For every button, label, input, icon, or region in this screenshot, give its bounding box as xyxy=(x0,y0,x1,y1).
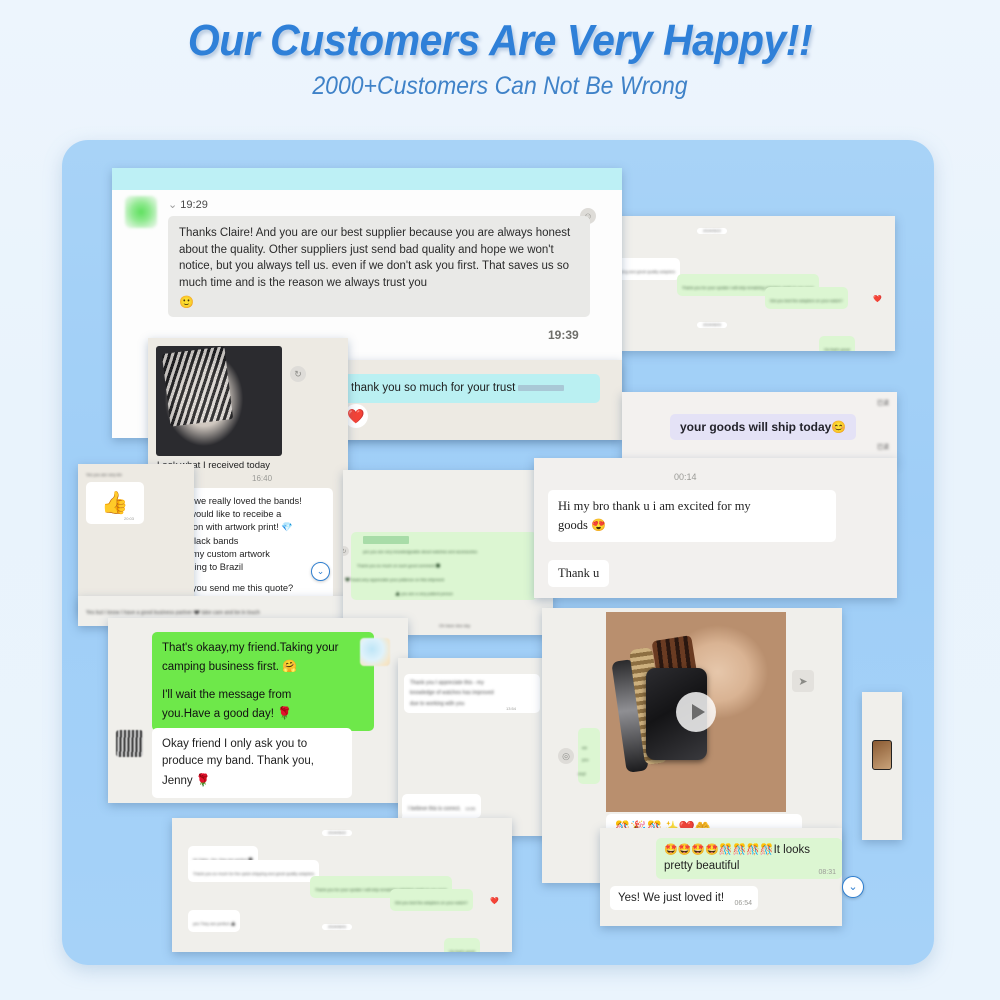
testimonial-card-excited[interactable]: 00:14 Hi my bro thank u i am excited for… xyxy=(534,458,897,598)
read-status-1: 已读 xyxy=(877,398,889,410)
message-time: 19:29 xyxy=(180,199,208,211)
message-out-3: 👍 you are a very patient person xyxy=(395,590,453,598)
beautiful-line-2: pretty beautiful xyxy=(664,859,834,875)
page-header: Our Customers Are Very Happy!! 2000+Cust… xyxy=(0,0,1000,130)
chevron-down-icon[interactable]: ⌄ xyxy=(842,876,864,898)
testimonial-card-knowledgeable[interactable]: yes you are very knowledgeable about wat… xyxy=(343,470,553,635)
message-in-2: Thank you so much for the quick shipping… xyxy=(193,871,314,876)
message-in-3: yes They are perfect 👍 xyxy=(193,921,235,926)
heart-reaction-icon: ❤️ xyxy=(873,295,882,303)
produce-line-1: Okay friend I only ask you to xyxy=(162,736,342,753)
improved-line-1: Thank you I appreciate this - my xyxy=(410,678,534,688)
loved-it-time: 06:54 xyxy=(734,900,752,907)
redacted-block xyxy=(518,385,564,391)
camping-line-1: That's okaay,my friend.Taking your xyxy=(162,640,364,657)
improved-line-2: knowledge of watches has improved xyxy=(410,688,534,698)
partner-note-text: Yes but I know I have a good business pa… xyxy=(86,608,260,618)
message-out-4: Oh have nice day xyxy=(439,622,470,630)
correct-time: 13:55 xyxy=(465,806,475,811)
review-body: Thanks Claire! And you are our best supp… xyxy=(179,227,570,289)
product-thumbnail xyxy=(872,740,892,770)
avatar xyxy=(116,730,143,757)
sticker-avatar xyxy=(360,638,390,666)
celebration-emojis: 🤩🤩🤩🤩🎊🎊🎊🎊 xyxy=(664,844,774,856)
thumbs-up-emoji: 👍 xyxy=(101,490,128,516)
rose-emoji: 🌹 xyxy=(196,773,211,787)
refresh-icon: ↻ xyxy=(290,366,306,382)
produce-line-3: Jenny xyxy=(162,775,193,787)
heart-eyes-emoji: 😍 xyxy=(591,518,606,532)
excited-line-2: goods xyxy=(558,518,588,532)
message-in-1: yes you are very knowledgeable about wat… xyxy=(363,548,477,556)
testimonial-card-camping[interactable]: That's okaay,my friend.Taking your campi… xyxy=(108,618,408,803)
bands-photo[interactable] xyxy=(156,346,282,456)
thumbs-header-text: Yes you are very kin xyxy=(86,471,122,479)
testimonial-card-thumbs-up[interactable]: Yes you are very kin 👍 20:03 xyxy=(78,464,194,614)
play-icon[interactable] xyxy=(676,692,716,732)
improved-time: 13:54 xyxy=(506,706,516,711)
ship-today-text: your goods will ship today xyxy=(680,420,831,434)
adapters-timestamp: 19:39 xyxy=(548,328,579,342)
forward-icon[interactable]: ➤ xyxy=(792,670,814,692)
chevron-down-icon[interactable]: ⌄ xyxy=(311,562,330,581)
produce-line-2: produce my band. Thank you, xyxy=(162,753,342,770)
message-out-3: Ok that's great xyxy=(824,347,850,351)
loved-it-text: Yes! We just loved it! xyxy=(618,892,724,904)
testimonial-card-ship-today[interactable]: 已读 your goods will ship today😊 已读 xyxy=(622,392,897,462)
page-title: Our Customers Are Very Happy!! xyxy=(35,0,965,66)
message-out-2: Did you test the adapters on your watch? xyxy=(395,900,468,905)
testimonial-card-sliver[interactable] xyxy=(862,692,902,840)
excited-timestamp: 00:14 xyxy=(674,472,697,482)
camping-line-3: I'll wait the message from xyxy=(162,687,364,704)
rose-emoji: 🌹 xyxy=(277,706,292,720)
refresh-icon: ◎ xyxy=(558,748,574,764)
testimonial-card-trust-reply[interactable]: ↻ thank you so much for your trust ❤️ 19… xyxy=(300,360,622,440)
beautiful-line-1: It looks xyxy=(774,844,810,856)
mini-msg-1: we xyxy=(582,744,587,752)
camping-line-4: you.Have a good day! xyxy=(162,708,274,720)
message-out-2: Did you test the adapters on your watch? xyxy=(770,298,843,303)
testimonial-card-loved-it[interactable]: 🤩🤩🤩🤩🎊🎊🎊🎊It looks pretty beautiful 08:31 … xyxy=(600,828,842,926)
mini-msg-2: you xyxy=(582,756,588,764)
page-subtitle: 2000+Customers Can Not Be Wrong xyxy=(40,72,960,101)
trust-reply-text: thank you so much for your trust xyxy=(351,382,515,394)
testimonial-card-adapters-bottom[interactable]: 2024/05/22 Hi Claire, Yes, they are perf… xyxy=(172,818,512,952)
photo-time: 16:40 xyxy=(252,474,272,483)
thumbs-time: 20:03 xyxy=(124,516,134,521)
redacted-block xyxy=(363,536,409,544)
gem-emoji: 💎 xyxy=(281,522,293,532)
read-status-2: 已读 xyxy=(877,442,889,454)
excited-line-1: Hi my bro thank u i am excited for my xyxy=(558,497,826,516)
chat-header-strip xyxy=(112,168,622,190)
watch-video-thumbnail[interactable] xyxy=(606,612,786,812)
heart-reaction-icon: ❤️ xyxy=(490,897,499,905)
hug-emoji: 🤗 xyxy=(282,659,297,673)
message-out-1: Thank you so much on such good comment 😊 xyxy=(357,562,441,570)
message-out-3: Ok that's great xyxy=(449,949,475,952)
mini-msg-3: anyt xyxy=(578,770,586,778)
avatar xyxy=(125,196,157,228)
smile-emoji: 🙂 xyxy=(179,294,579,311)
thank-u-text: Thank u xyxy=(558,566,599,580)
date-pill: 2024/05/22 xyxy=(322,830,352,836)
date-pill-2: 2024/06/03 xyxy=(322,924,352,930)
date-pill: 2024/05/22 xyxy=(697,228,727,234)
date-pill-2: 2024/06/03 xyxy=(697,322,727,328)
camping-line-2: camping business first. xyxy=(162,661,279,673)
message-out-2: 💚 heart,very appreciate your patience on… xyxy=(345,576,444,584)
smile-emoji: 😊 xyxy=(831,420,846,434)
beautiful-time: 08:31 xyxy=(818,868,836,877)
refresh-icon: ↻ xyxy=(343,546,349,556)
